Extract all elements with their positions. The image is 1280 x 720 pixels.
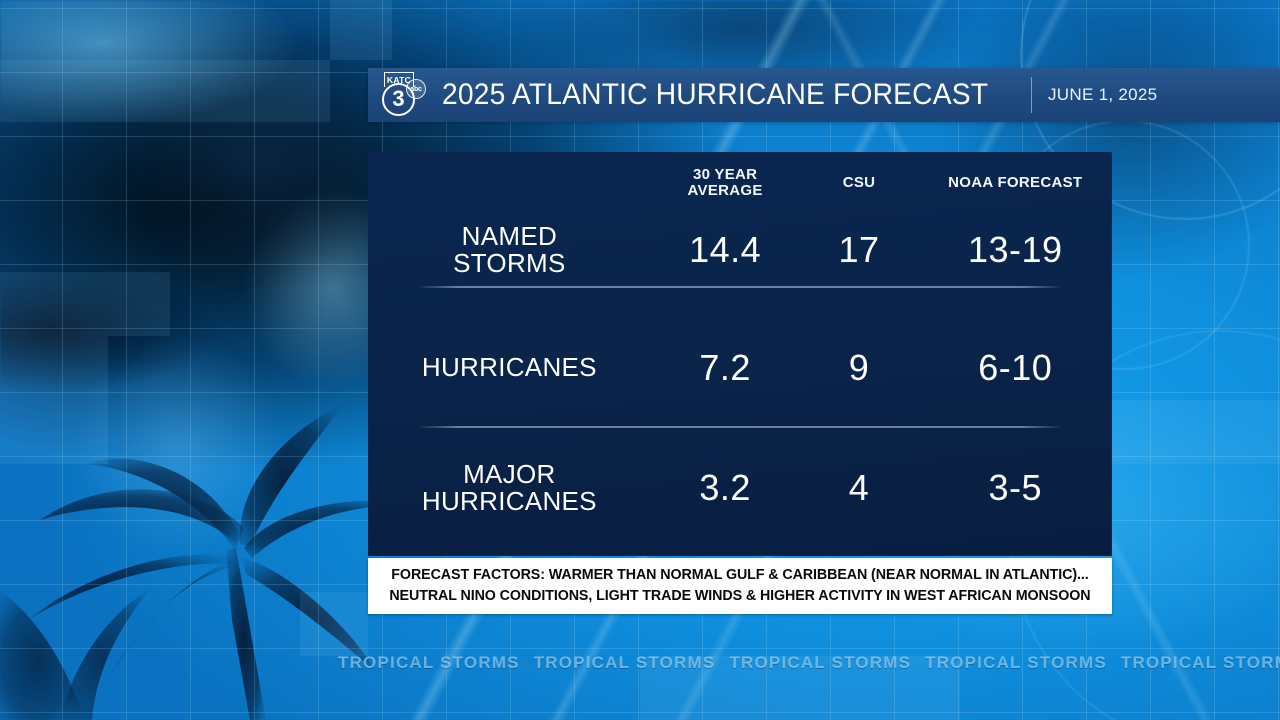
header-line-1: 30 YEAR [688, 167, 763, 183]
table-header-row: 30 YEAR AVERAGE CSU NOAA FORECAST [368, 162, 1112, 204]
row-value-noaa: 6-10 [919, 322, 1112, 414]
table-header-category [368, 162, 651, 204]
row-label-line-2: HURRICANES [422, 488, 597, 515]
channel-number-text: 3 [392, 88, 404, 110]
table-row: HURRICANES 7.2 9 6-10 [368, 322, 1112, 414]
ticker-item: TROPICAL STORMS [338, 653, 520, 673]
footer-line-2: NEUTRAL NINO CONDITIONS, LIGHT TRADE WIN… [389, 586, 1090, 607]
row-label-line-1: HURRICANES [422, 354, 597, 381]
row-value-average: 14.4 [651, 204, 800, 296]
row-label: NAMED STORMS [368, 204, 651, 296]
row-value-noaa: 3-5 [919, 442, 1112, 534]
row-value-average: 3.2 [651, 442, 800, 534]
table-header-noaa-forecast: NOAA FORECAST [919, 162, 1112, 204]
row-label-line-2: STORMS [453, 250, 566, 277]
row-label-line-1: NAMED [453, 223, 566, 250]
forecast-date: JUNE 1, 2025 [1048, 85, 1157, 105]
table-header-csu: CSU [800, 162, 919, 204]
table-row: NAMED STORMS 14.4 17 13-19 [368, 204, 1112, 296]
row-label-line-1: MAJOR [422, 461, 597, 488]
table-header-30-year-average: 30 YEAR AVERAGE [651, 162, 800, 204]
header-line-2: AVERAGE [688, 183, 763, 199]
forecast-panel: 30 YEAR AVERAGE CSU NOAA FORECAST NAMED … [368, 152, 1112, 556]
katc-channel-3-logo-icon: KATC abc 3 [380, 72, 428, 118]
ticker-item: TROPICAL STORMS [1121, 653, 1280, 673]
ticker-item: TROPICAL STORMS [729, 653, 911, 673]
table-row-divider [420, 286, 1060, 288]
header-divider [1031, 77, 1032, 113]
table-row: MAJOR HURRICANES 3.2 4 3-5 [368, 442, 1112, 534]
row-value-average: 7.2 [651, 322, 800, 414]
row-value-noaa: 13-19 [919, 204, 1112, 296]
ticker-item: TROPICAL STORMS [534, 653, 716, 673]
row-value-csu: 4 [800, 442, 919, 534]
row-label: MAJOR HURRICANES [368, 442, 651, 534]
forecast-table: 30 YEAR AVERAGE CSU NOAA FORECAST NAMED … [368, 152, 1112, 556]
header-banner: KATC abc 3 2025 ATLANTIC HURRICANE FOREC… [368, 68, 1280, 122]
row-label: HURRICANES [368, 322, 651, 414]
channel-number-circle: 3 [382, 83, 415, 116]
table-row-divider [420, 426, 1060, 428]
forecast-factors-footer: FORECAST FACTORS: WARMER THAN NORMAL GUL… [368, 558, 1112, 614]
row-value-csu: 9 [800, 322, 919, 414]
page-title: 2025 ATLANTIC HURRICANE FORECAST [442, 78, 988, 112]
ticker-item: TROPICAL STORMS [925, 653, 1107, 673]
row-value-csu: 17 [800, 204, 919, 296]
ticker-bar: TROPICAL STORMS TROPICAL STORMS TROPICAL… [0, 650, 1280, 676]
footer-line-1: FORECAST FACTORS: WARMER THAN NORMAL GUL… [391, 565, 1088, 586]
